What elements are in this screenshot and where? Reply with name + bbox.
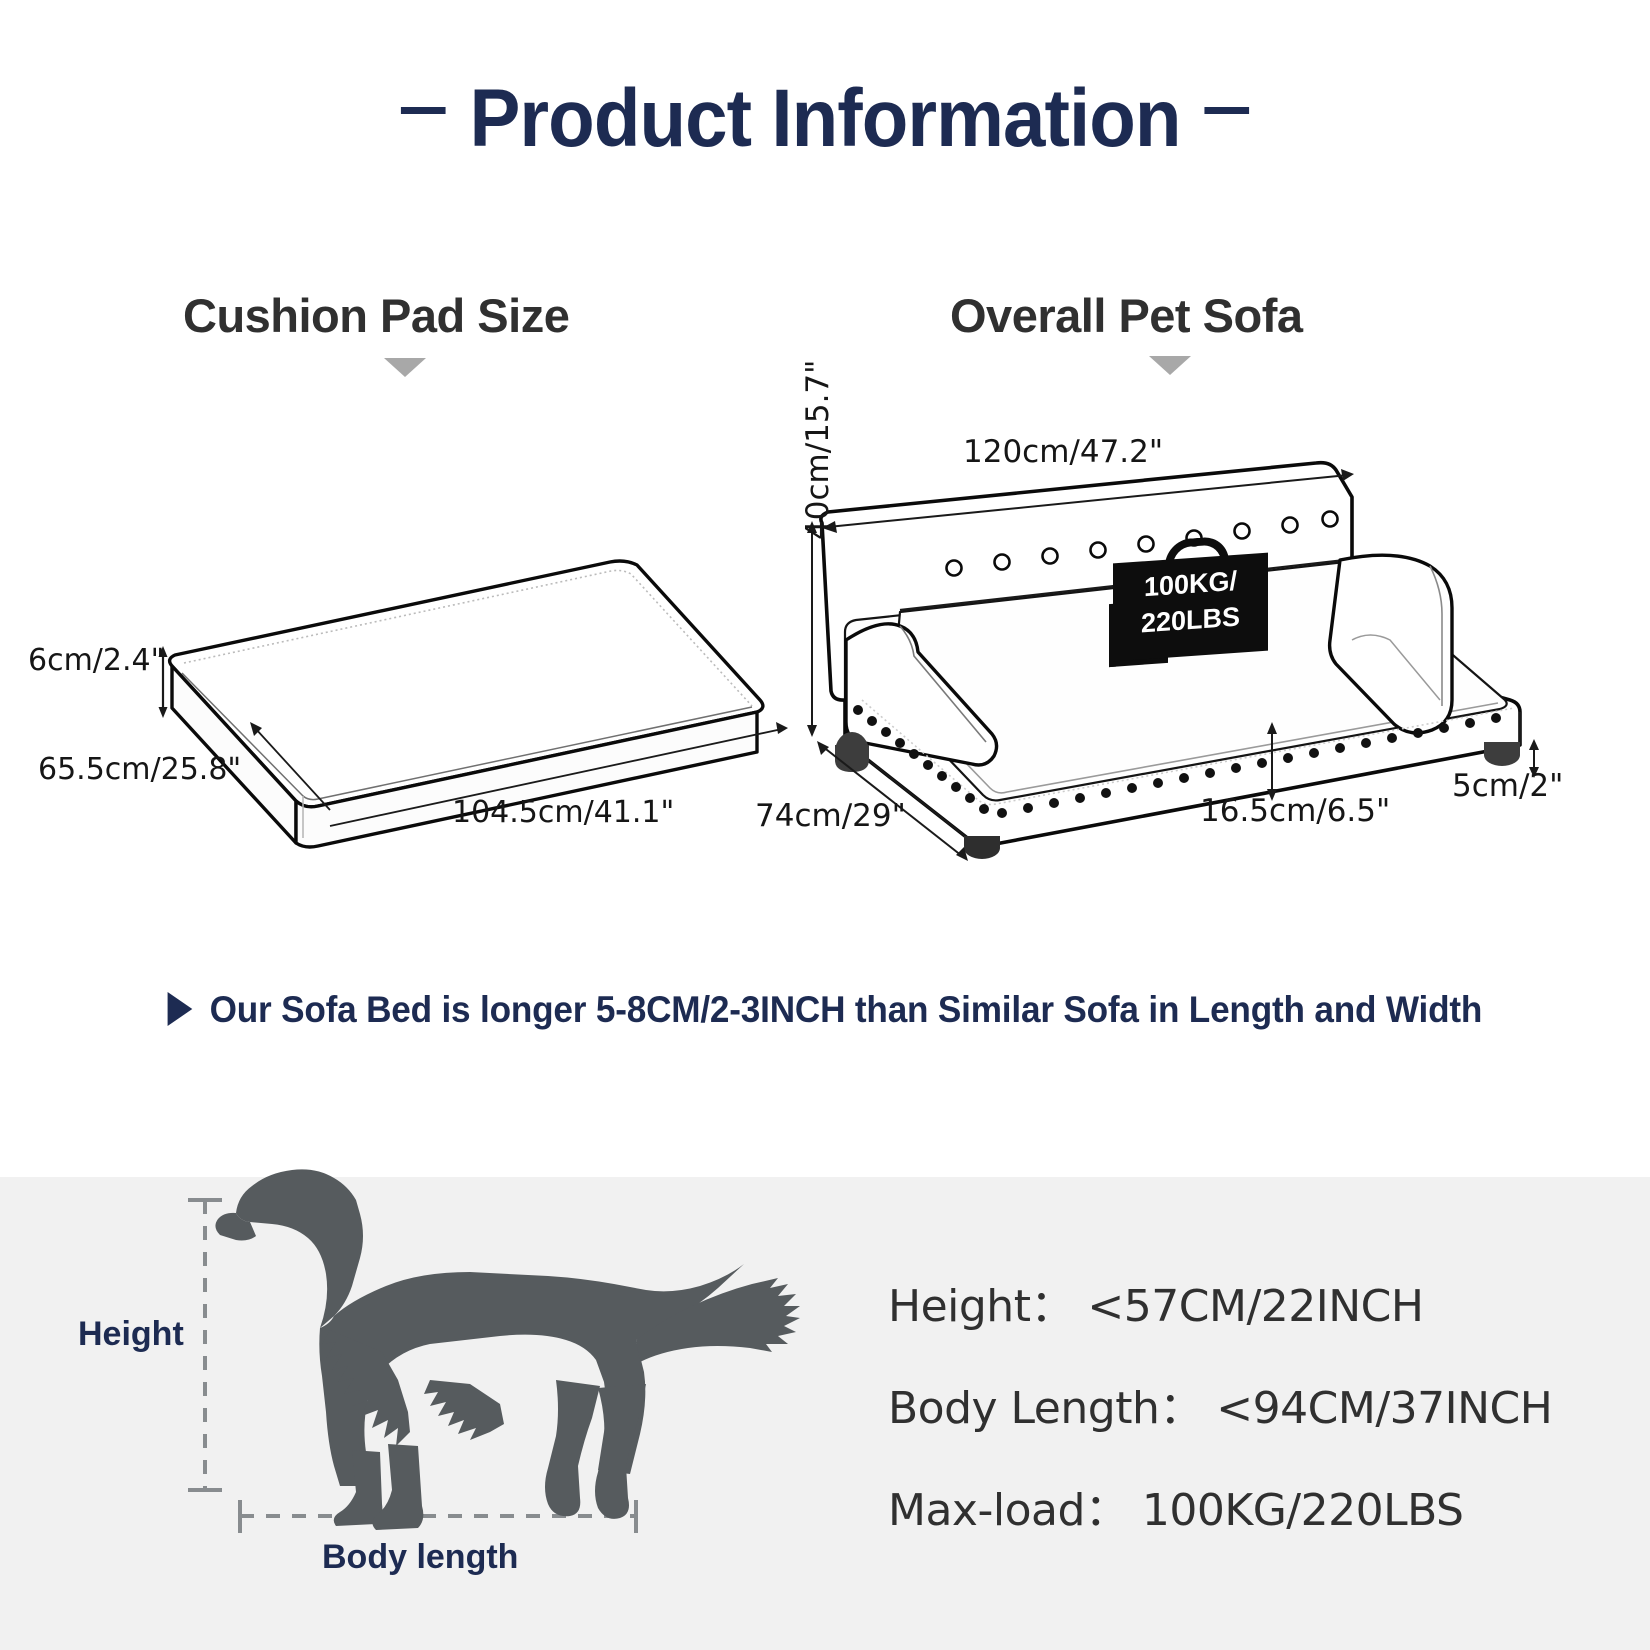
chevron-down-icon-sofa (1149, 356, 1191, 375)
section-heading-cushion: Cushion Pad Size (183, 288, 569, 343)
play-triangle-icon (168, 992, 193, 1026)
title-dash-left (401, 107, 446, 114)
tagline: Our Sofa Bed is longer 5-8CM/2-3INCH tha… (41, 988, 1609, 1031)
spec-row-max-load: Max-load： 100KG/220LBS (888, 1474, 1588, 1538)
section-heading-sofa: Overall Pet Sofa (950, 288, 1303, 343)
sofa-leg-height-label: 5cm/2" (1452, 768, 1563, 804)
cushion-thickness-label: 6cm/2.4" (28, 643, 164, 678)
sofa-seat-height-label: 16.5cm/6.5" (1200, 793, 1390, 829)
dog-body-length-label: Body length (322, 1538, 518, 1577)
cushion-width-label: 65.5cm/25.8" (38, 752, 241, 787)
sofa-depth-label: 74cm/29" (755, 798, 906, 834)
dog-spec-list: Height： <57CM/22INCH Body Length： <94CM/… (888, 1270, 1588, 1576)
sofa-height-label: 40cm/15.7" (800, 360, 836, 540)
weight-badge-text: 100KG/ 220LBS (1113, 561, 1268, 644)
spec-row-height: Height： <57CM/22INCH (888, 1270, 1588, 1334)
spec-row-body-length: Body Length： <94CM/37INCH (888, 1372, 1588, 1436)
title-dash-right (1205, 107, 1250, 114)
weight-capacity-badge: 100KG/ 220LBS (1113, 538, 1268, 656)
sofa-length-label: 120cm/47.2" (963, 434, 1163, 470)
tagline-text: Our Sofa Bed is longer 5-8CM/2-3INCH tha… (210, 989, 1483, 1030)
chevron-down-icon-cushion (384, 358, 426, 377)
page-title: Product Information (58, 72, 1593, 166)
page-title-text: Product Information (469, 73, 1180, 164)
dog-height-label: Height (78, 1315, 184, 1354)
cushion-length-label: 104.5cm/41.1" (452, 795, 674, 830)
